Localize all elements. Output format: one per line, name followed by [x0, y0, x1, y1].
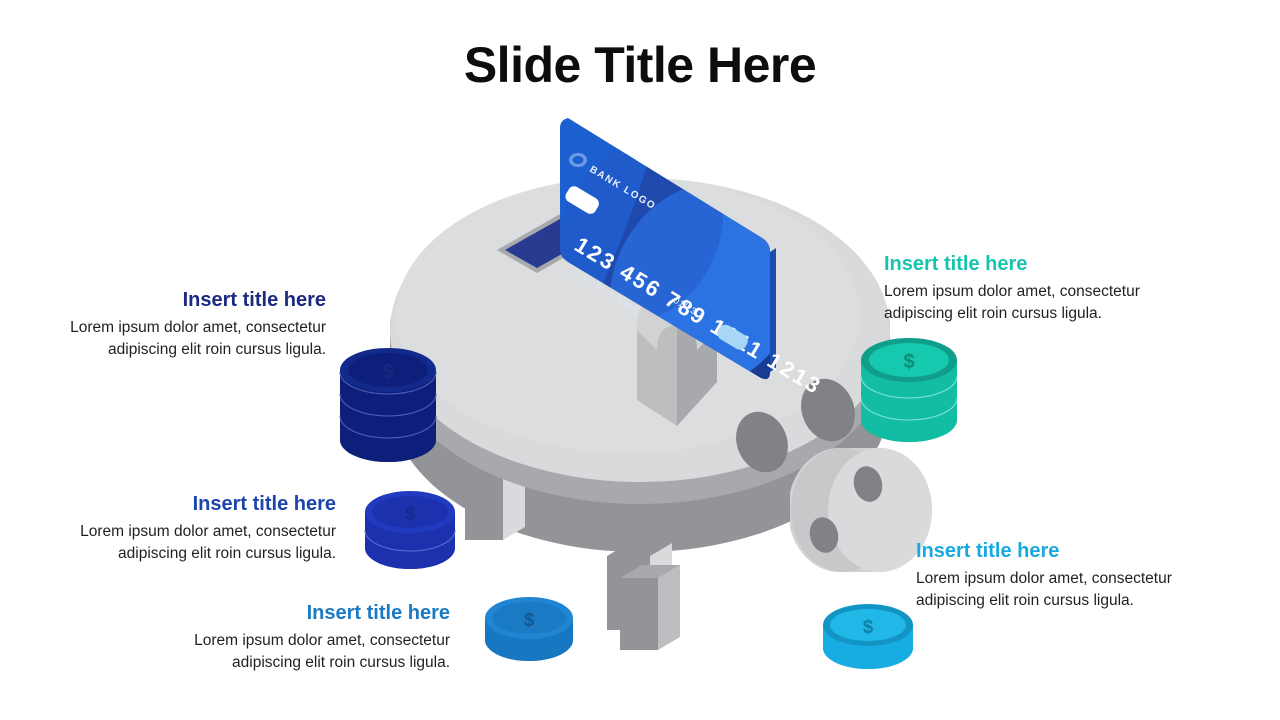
callout-left-middle[interactable]: Insert title here Lorem ipsum dolor amet…: [28, 492, 336, 565]
piggy-leg-back-right: [607, 543, 672, 630]
credit-card[interactable]: BANK LOGO 123 456 789 1011 1213 YOUR NAM…: [524, 110, 839, 426]
callout-left-bottom[interactable]: Insert title here Lorem ipsum dolor amet…: [148, 601, 450, 674]
coin-stack-blue: $: [365, 491, 455, 569]
card-chip: [715, 322, 751, 352]
piggy-leg-back-left: [465, 457, 525, 540]
callout-title: Insert title here: [916, 539, 1206, 564]
callout-body: Lorem ipsum dolor amet, consectetur adip…: [884, 281, 1184, 325]
piggy-body: [390, 177, 890, 504]
coin-single-cyan: $: [823, 604, 913, 669]
page-title: Slide Title Here: [0, 38, 1280, 93]
svg-text:$: $: [903, 351, 914, 373]
callout-right-top[interactable]: Insert title here Lorem ipsum dolor amet…: [884, 252, 1184, 325]
bank-logo-text: BANK LOGO: [587, 164, 657, 212]
coin-stack-teal: $: [861, 338, 957, 442]
card-expiry: 01/23: [672, 295, 699, 316]
svg-text:$: $: [405, 504, 416, 525]
callout-right-bottom[interactable]: Insert title here Lorem ipsum dolor amet…: [916, 539, 1206, 612]
callout-title: Insert title here: [28, 492, 336, 517]
coin-stack-navy: $: [340, 348, 436, 462]
callout-left-top[interactable]: Insert title here Lorem ipsum dolor amet…: [18, 288, 326, 361]
callout-title: Insert title here: [18, 288, 326, 313]
bank-logo-icon: [569, 153, 587, 167]
callout-body: Lorem ipsum dolor amet, consectetur adip…: [18, 317, 326, 361]
svg-text:$: $: [524, 610, 535, 631]
slide-canvas: Slide Title Here: [0, 0, 1280, 720]
piggy-leg-front: [620, 565, 680, 650]
callout-title: Insert title here: [884, 252, 1184, 277]
card-stripe: [563, 184, 601, 216]
card-number: 123 456 789 1011 1213: [570, 232, 826, 400]
piggy-ear: [637, 286, 717, 426]
card-holder-name: YOUR NAME: [568, 267, 643, 318]
coin-single-blue: $: [485, 597, 573, 661]
piggy-eye: [727, 371, 864, 481]
callout-body: Lorem ipsum dolor amet, consectetur adip…: [916, 568, 1206, 612]
callout-title: Insert title here: [148, 601, 450, 626]
piggy-shadow: [390, 248, 890, 552]
callout-body: Lorem ipsum dolor amet, consectetur adip…: [28, 521, 336, 565]
callout-body: Lorem ipsum dolor amet, consectetur adip…: [148, 630, 450, 674]
svg-text:$: $: [863, 617, 874, 638]
piggy-coin-slot[interactable]: [497, 214, 600, 273]
piggy-snout: [790, 448, 932, 572]
svg-text:$: $: [382, 361, 393, 383]
